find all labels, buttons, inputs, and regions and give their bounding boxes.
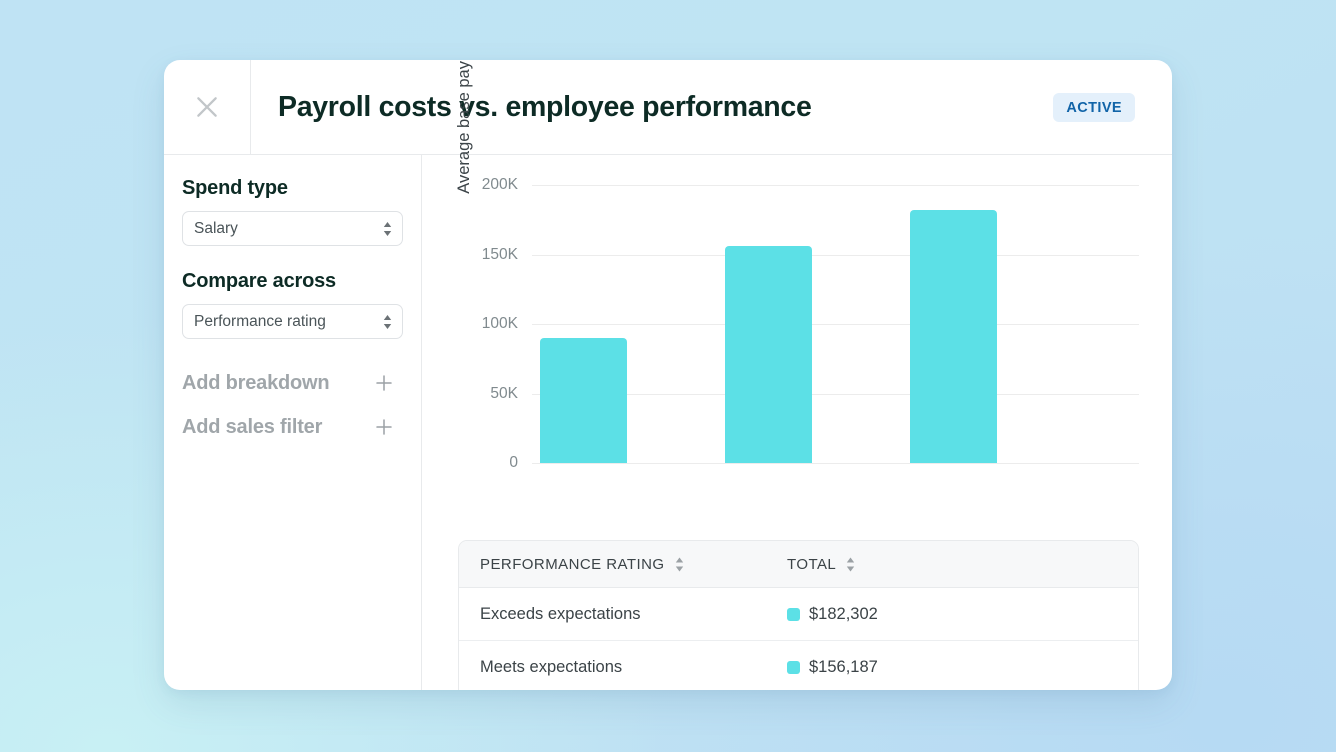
page-title: Payroll costs vs. employee performance	[251, 60, 1053, 154]
controls-sidebar: Spend type Salary Compare across Perform…	[164, 155, 422, 690]
add-breakdown-button[interactable]: Add breakdown	[182, 363, 403, 403]
column-header-performance-rating[interactable]: PERFORMANCE RATING	[459, 556, 766, 573]
status-badge[interactable]: ACTIVE	[1053, 93, 1135, 122]
column-header-total[interactable]: TOTAL	[766, 556, 856, 573]
y-axis-tick-label: 0	[509, 454, 518, 472]
gridline: 0	[532, 463, 1139, 464]
spend-type-select[interactable]: Salary	[182, 211, 403, 246]
card-body: Spend type Salary Compare across Perform…	[164, 155, 1172, 690]
table-row[interactable]: Meets expectations$156,187	[459, 641, 1138, 690]
cell-total: $182,302	[766, 605, 878, 624]
status-badge-wrap: ACTIVE	[1053, 60, 1172, 154]
y-axis-tick-label: 150K	[482, 246, 518, 264]
bar[interactable]	[910, 210, 997, 463]
y-axis-tick-label: 200K	[482, 176, 518, 194]
up-down-stepper-icon	[382, 221, 393, 237]
bar[interactable]	[540, 338, 627, 463]
table-header-row: PERFORMANCE RATING TOTAL	[459, 541, 1138, 588]
cell-performance-rating: Meets expectations	[459, 658, 766, 677]
plus-icon	[376, 375, 392, 391]
cell-total: $156,187	[766, 658, 878, 677]
color-swatch	[787, 608, 800, 621]
spend-type-label: Spend type	[182, 177, 403, 200]
plus-icon	[376, 419, 392, 435]
y-axis-tick-label: 100K	[482, 315, 518, 333]
data-table: PERFORMANCE RATING TOTAL E	[458, 540, 1139, 690]
y-axis-title: Average base pay ($)	[455, 60, 474, 225]
table-body: Exceeds expectations$182,302Meets expect…	[459, 588, 1138, 690]
column-label: TOTAL	[787, 556, 836, 573]
spend-type-value: Salary	[194, 220, 238, 238]
bar-chart: Average base pay ($) 050K100K150K200K	[422, 155, 1172, 515]
total-value: $182,302	[809, 605, 878, 624]
card-header: Payroll costs vs. employee performance A…	[164, 60, 1172, 155]
up-down-stepper-icon	[382, 314, 393, 330]
report-main: Average base pay ($) 050K100K150K200K PE…	[422, 155, 1172, 690]
total-value: $156,187	[809, 658, 878, 677]
column-label: PERFORMANCE RATING	[480, 556, 665, 573]
bar-series	[532, 185, 1139, 463]
sort-arrows-icon	[845, 557, 856, 572]
chart-plot-area: 050K100K150K200K	[532, 185, 1139, 463]
add-sales-filter-label: Add sales filter	[182, 416, 322, 439]
table-row[interactable]: Exceeds expectations$182,302	[459, 588, 1138, 641]
bar[interactable]	[725, 246, 812, 463]
close-icon	[194, 94, 220, 120]
compare-across-select[interactable]: Performance rating	[182, 304, 403, 339]
compare-across-value: Performance rating	[194, 313, 326, 331]
add-sales-filter-button[interactable]: Add sales filter	[182, 407, 403, 447]
report-card: Payroll costs vs. employee performance A…	[164, 60, 1172, 690]
close-button[interactable]	[164, 60, 251, 154]
sort-arrows-icon	[674, 557, 685, 572]
cell-performance-rating: Exceeds expectations	[459, 605, 766, 624]
add-breakdown-label: Add breakdown	[182, 372, 329, 395]
y-axis-tick-label: 50K	[490, 385, 518, 403]
color-swatch	[787, 661, 800, 674]
compare-across-label: Compare across	[182, 270, 403, 293]
